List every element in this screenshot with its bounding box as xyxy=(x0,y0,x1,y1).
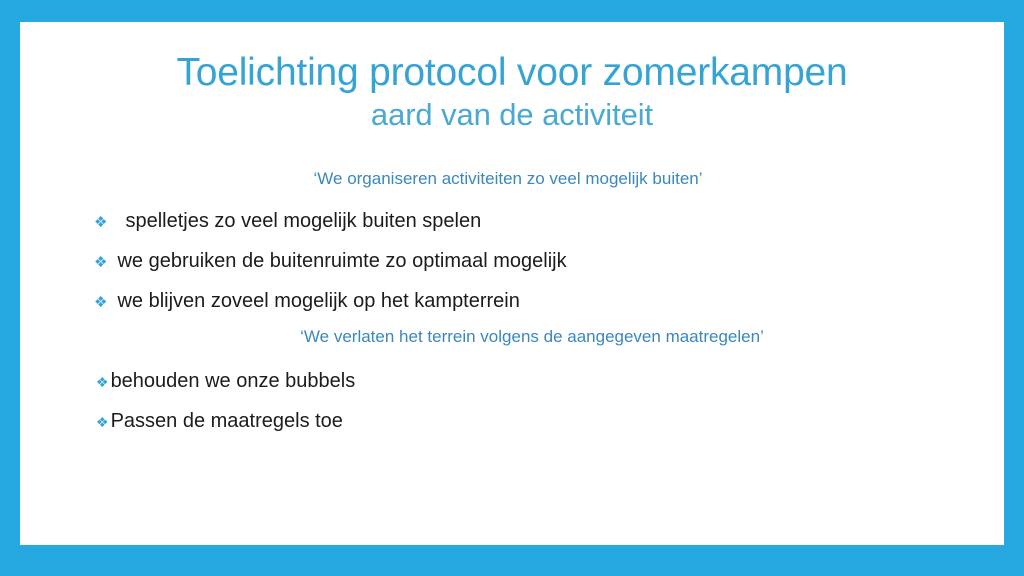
section-two-heading: ‘We verlaten het terrein volgens de aang… xyxy=(20,326,1004,348)
diamond-bullet-icon: ❖ xyxy=(96,409,109,435)
bullet-item-label: we gebruiken de buitenruimte zo optimaal… xyxy=(107,248,566,274)
bullet-item-label: Passen de maatregels toe xyxy=(109,408,343,434)
slide-canvas: Toelichting protocol voor zomerkampen aa… xyxy=(20,22,1004,545)
diamond-bullet-icon: ❖ xyxy=(96,369,109,395)
slide-subtitle: aard van de activiteit xyxy=(20,96,1004,134)
bullet-item: ❖ we gebruiken de buitenruimte zo optima… xyxy=(94,248,567,276)
slide-title-block: Toelichting protocol voor zomerkampen aa… xyxy=(20,50,1004,134)
bullet-item-label: behouden we onze bubbels xyxy=(109,368,356,394)
slide-border-frame: Toelichting protocol voor zomerkampen aa… xyxy=(0,0,1024,576)
bullet-item-label: spelletjes zo veel mogelijk buiten spele… xyxy=(107,208,481,234)
bullet-item: ❖ spelletjes zo veel mogelijk buiten spe… xyxy=(94,208,481,236)
bullet-item: ❖ Passen de maatregels toe xyxy=(96,408,343,435)
bullet-item: ❖ we blijven zoveel mogelijk op het kamp… xyxy=(94,288,520,316)
bullet-item-label: we blijven zoveel mogelijk op het kampte… xyxy=(107,288,519,314)
diamond-bullet-icon: ❖ xyxy=(94,290,107,316)
section-one-heading: ‘We organiseren activiteiten zo veel mog… xyxy=(20,168,1004,190)
diamond-bullet-icon: ❖ xyxy=(94,250,107,276)
diamond-bullet-icon: ❖ xyxy=(94,210,107,236)
slide-title: Toelichting protocol voor zomerkampen xyxy=(20,50,1004,96)
bullet-item: ❖ behouden we onze bubbels xyxy=(96,368,355,395)
